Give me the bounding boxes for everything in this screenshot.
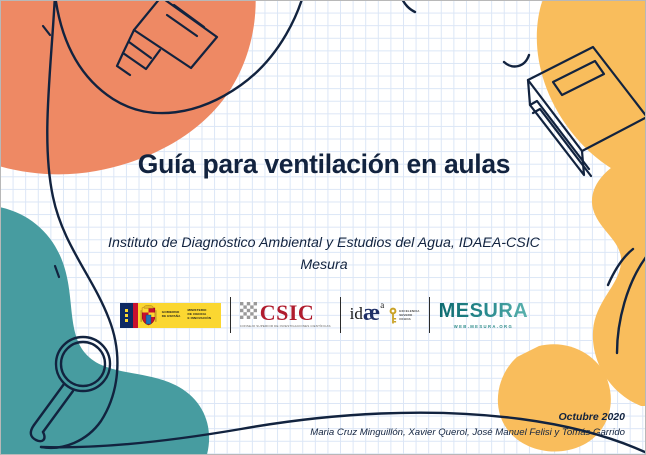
presentation-slide: Guía para ventilación en aulas Instituto… (0, 0, 646, 455)
idaea-logo-mark: id æ a EXCELENCIA (350, 305, 420, 324)
idaea-ligature: æ (363, 304, 380, 323)
flag-strip-icon (120, 303, 133, 328)
subtitle-line-1: Instituto de Diagnóstico Ambiental y Est… (1, 232, 646, 254)
severo-ochoa-badge: EXCELENCIA SEVERO OCHOA (389, 307, 419, 324)
mesura-logo-mark: MESURA WEB.MESURA.ORG (439, 301, 529, 329)
logo-csic: CSIC CONSEJO SUPERIOR DE INVESTIGACIONES… (231, 302, 340, 329)
publication-date: Octubre 2020 (558, 411, 625, 423)
logo-row: GOBIERNO DE ESPAÑA MINISTERIO DE CIENCIA… (1, 297, 646, 333)
idaea-superscript: a (380, 301, 384, 310)
subtitle-line-2: Mesura (1, 254, 646, 276)
severo-key-icon (389, 307, 397, 324)
coat-of-arms-icon (138, 303, 160, 328)
logo-gobierno-de-espana: GOBIERNO DE ESPAÑA MINISTERIO DE CIENCIA… (111, 303, 230, 328)
mesura-wordmark: MESURA (439, 301, 529, 321)
mesura-url: WEB.MESURA.ORG (454, 324, 513, 329)
page-title: Guía para ventilación en aulas (1, 149, 646, 180)
logo-mesura: MESURA WEB.MESURA.ORG (430, 301, 538, 329)
author-list: Maria Cruz Minguillón, Xavier Querol, Jo… (310, 427, 625, 438)
idaea-prefix: id (350, 305, 363, 322)
csic-emblem-icon (240, 302, 257, 319)
gobierno-line-5: E INNOVACIÓN (187, 317, 211, 321)
idaea-wordmark: id æ a (350, 305, 385, 324)
subtitle-block: Instituto de Diagnóstico Ambiental y Est… (1, 232, 646, 276)
gobierno-ministry-primary: GOBIERNO DE ESPAÑA (162, 311, 181, 319)
logo-idaea: id æ a EXCELENCIA (341, 305, 429, 324)
gobierno-text-block: GOBIERNO DE ESPAÑA MINISTERIO DE CIENCIA… (160, 303, 221, 328)
gobierno-line-2: DE ESPAÑA (162, 315, 181, 319)
severo-line-3: OCHOA (399, 317, 419, 321)
gobierno-logo-mark: GOBIERNO DE ESPAÑA MINISTERIO DE CIENCIA… (120, 303, 221, 328)
gobierno-ministry-secondary: MINISTERIO DE CIENCIA E INNOVACIÓN (187, 309, 211, 321)
csic-wordmark: CSIC (260, 304, 315, 323)
severo-ochoa-text: EXCELENCIA SEVERO OCHOA (399, 309, 419, 321)
csic-subtitle: CONSEJO SUPERIOR DE INVESTIGACIONES CIEN… (240, 324, 331, 328)
csic-logo-mark: CSIC (240, 302, 315, 323)
